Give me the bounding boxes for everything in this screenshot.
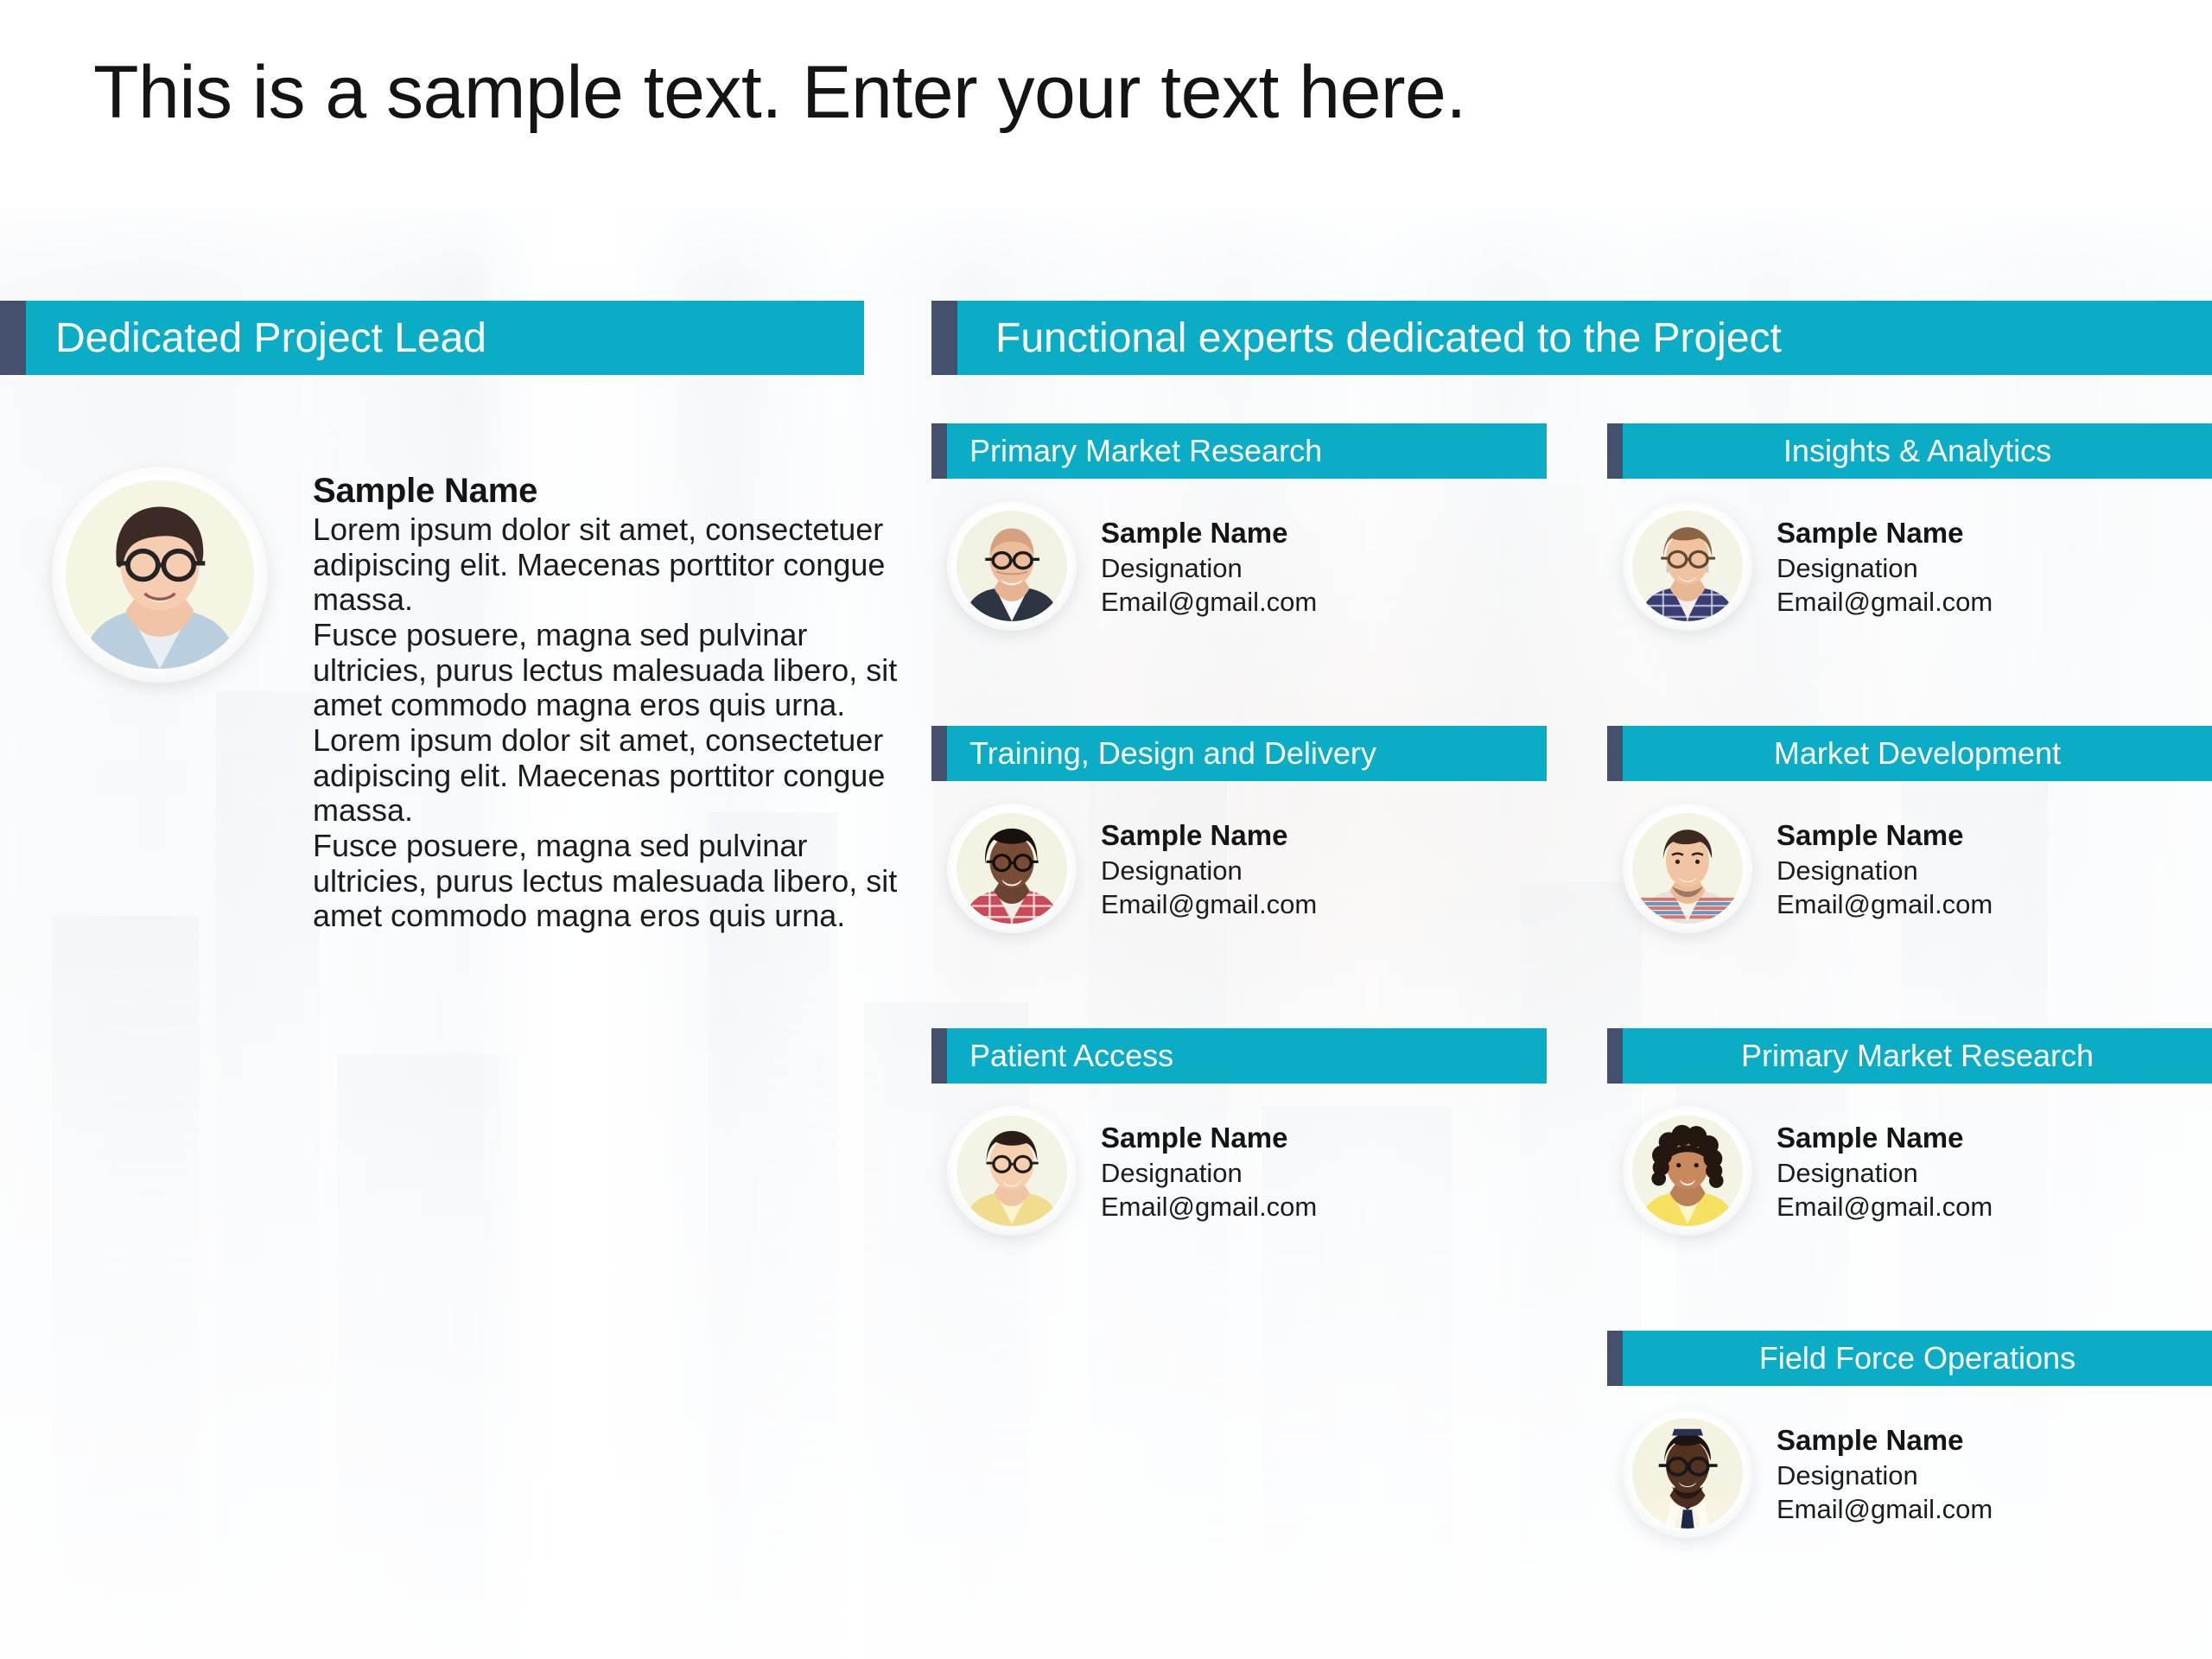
card-header-fill: Field Force Operations	[1623, 1331, 2212, 1386]
expert-card-header: Insights & Analytics	[1607, 423, 2212, 479]
expert-person: Sample Name Designation Email@gmail.com	[1101, 501, 1317, 619]
expert-card-body: Sample Name Designation Email@gmail.com	[1607, 1084, 2212, 1236]
expert-name: Sample Name	[1777, 1422, 1993, 1459]
expert-name: Sample Name	[1101, 515, 1317, 551]
expert-person: Sample Name Designation Email@gmail.com	[1777, 804, 1993, 921]
avatar-photo-woman-glasses-navy-plaid	[1632, 511, 1743, 621]
avatar-ring	[52, 467, 268, 683]
expert-card-header: Market Development	[1607, 726, 2212, 781]
card-accent-tab	[1607, 423, 1623, 479]
expert-card[interactable]: Field Force Operations	[1607, 1331, 2212, 1538]
expert-card-title: Insights & Analytics	[1783, 433, 2051, 469]
avatar-ring	[947, 501, 1077, 631]
expert-card-body: Sample Name Designation Email@gmail.com	[1607, 1386, 2212, 1538]
expert-card-header: Patient Access	[931, 1028, 1547, 1084]
expert-card-title: Market Development	[1774, 735, 2061, 772]
page-title: This is a sample text. Enter your text h…	[93, 50, 1466, 136]
expert-designation: Designation	[1101, 1156, 1317, 1190]
section-header-fill: Dedicated Project Lead	[26, 301, 864, 375]
card-header-fill: Insights & Analytics	[1623, 423, 2212, 479]
expert-card-header: Field Force Operations	[1607, 1331, 2212, 1386]
expert-card-header: Primary Market Research	[1607, 1028, 2212, 1084]
avatar-photo-woman-glasses-denim	[66, 480, 254, 669]
card-accent-tab	[1607, 1028, 1623, 1084]
project-lead-body: Lorem ipsum dolor sit amet, consectetuer…	[313, 512, 918, 934]
card-accent-tab	[1607, 1331, 1623, 1386]
project-lead-name: Sample Name	[313, 472, 918, 511]
expert-card[interactable]: Training, Design and Delivery	[931, 726, 1547, 933]
expert-card-header: Training, Design and Delivery	[931, 726, 1547, 781]
expert-person: Sample Name Designation Email@gmail.com	[1101, 1106, 1317, 1224]
avatar-photo-man-glasses-tie	[1632, 1418, 1743, 1529]
project-lead-block: Sample Name Lorem ipsum dolor sit amet, …	[52, 467, 925, 934]
expert-email: Email@gmail.com	[1101, 1190, 1317, 1224]
expert-person: Sample Name Designation Email@gmail.com	[1777, 1408, 1993, 1526]
section-header-label: Functional experts dedicated to the Proj…	[957, 315, 1782, 362]
card-accent-tab	[931, 726, 947, 781]
expert-name: Sample Name	[1777, 515, 1993, 551]
avatar-photo-man-striped-shirt	[1632, 813, 1743, 924]
expert-card-body: Sample Name Designation Email@gmail.com	[1607, 479, 2212, 631]
lead-paragraph: Lorem ipsum dolor sit amet, consectetuer…	[313, 512, 918, 618]
expert-designation: Designation	[1101, 551, 1317, 585]
avatar-photo-woman-glasses-plaid	[957, 813, 1067, 924]
card-header-fill: Training, Design and Delivery	[947, 726, 1547, 781]
project-lead-avatar	[52, 467, 268, 934]
expert-email: Email@gmail.com	[1101, 585, 1317, 619]
expert-email: Email@gmail.com	[1777, 1190, 1993, 1224]
section-header-label: Dedicated Project Lead	[26, 315, 486, 362]
section-accent-tab	[0, 301, 26, 375]
expert-email: Email@gmail.com	[1777, 887, 1993, 921]
expert-email: Email@gmail.com	[1777, 585, 1993, 619]
expert-person: Sample Name Designation Email@gmail.com	[1777, 1106, 1993, 1224]
section-header-fill: Functional experts dedicated to the Proj…	[957, 301, 2212, 375]
avatar-ring	[947, 804, 1077, 933]
expert-designation: Designation	[1777, 551, 1993, 585]
card-accent-tab	[931, 1028, 947, 1084]
expert-designation: Designation	[1777, 1459, 1993, 1492]
expert-card[interactable]: Primary Market Research	[1607, 1028, 2212, 1236]
expert-designation: Designation	[1101, 854, 1317, 887]
avatar-ring	[1623, 501, 1752, 631]
avatar-ring	[1623, 1408, 1752, 1538]
avatar-ring	[1623, 804, 1752, 933]
avatar-photo-woman-glasses-yellow-top	[957, 1116, 1067, 1226]
lead-paragraph: Fusce posuere, magna sed pulvinar ultric…	[313, 618, 918, 723]
expert-card-body: Sample Name Designation Email@gmail.com	[1607, 781, 2212, 933]
expert-card-header: Primary Market Research	[931, 423, 1547, 479]
expert-card[interactable]: Market Development	[1607, 726, 2212, 933]
expert-name: Sample Name	[1777, 1120, 1993, 1156]
card-header-fill: Patient Access	[947, 1028, 1547, 1084]
avatar-ring	[1623, 1106, 1752, 1236]
card-accent-tab	[1607, 726, 1623, 781]
expert-name: Sample Name	[1101, 1120, 1317, 1156]
expert-name: Sample Name	[1101, 817, 1317, 854]
expert-card-title: Primary Market Research	[1741, 1038, 2094, 1074]
card-header-fill: Market Development	[1623, 726, 2212, 781]
expert-card-body: Sample Name Designation Email@gmail.com	[931, 1084, 1547, 1236]
section-accent-tab	[931, 301, 957, 375]
expert-person: Sample Name Designation Email@gmail.com	[1777, 501, 1993, 619]
avatar-ring	[947, 1106, 1077, 1236]
expert-person: Sample Name Designation Email@gmail.com	[1101, 804, 1317, 921]
expert-card-title: Training, Design and Delivery	[947, 735, 1376, 772]
section-header-dedicated-project-lead: Dedicated Project Lead	[0, 301, 864, 375]
section-header-functional-experts: Functional experts dedicated to the Proj…	[931, 301, 2212, 375]
card-accent-tab	[931, 423, 947, 479]
lead-paragraph: Fusce posuere, magna sed pulvinar ultric…	[313, 829, 918, 934]
expert-email: Email@gmail.com	[1101, 887, 1317, 921]
expert-card-title: Field Force Operations	[1759, 1340, 2075, 1376]
avatar-photo-woman-curly-hair-yellow	[1632, 1116, 1743, 1226]
card-header-fill: Primary Market Research	[1623, 1028, 2212, 1084]
expert-card-title: Patient Access	[947, 1038, 1173, 1074]
project-lead-text: Sample Name Lorem ipsum dolor sit amet, …	[313, 467, 918, 934]
avatar-photo-bald-man-glasses-suit	[957, 511, 1067, 621]
expert-card[interactable]: Insights & Analytics	[1607, 423, 2212, 631]
expert-card-title: Primary Market Research	[947, 433, 1322, 469]
expert-card[interactable]: Patient Access	[931, 1028, 1547, 1236]
expert-email: Email@gmail.com	[1777, 1492, 1993, 1526]
expert-card[interactable]: Primary Market Research	[931, 423, 1547, 631]
expert-card-body: Sample Name Designation Email@gmail.com	[931, 781, 1547, 933]
card-header-fill: Primary Market Research	[947, 423, 1547, 479]
expert-designation: Designation	[1777, 854, 1993, 887]
expert-name: Sample Name	[1777, 817, 1993, 854]
lead-paragraph: Lorem ipsum dolor sit amet, consectetuer…	[313, 723, 918, 829]
expert-designation: Designation	[1777, 1156, 1993, 1190]
expert-card-body: Sample Name Designation Email@gmail.com	[931, 479, 1547, 631]
